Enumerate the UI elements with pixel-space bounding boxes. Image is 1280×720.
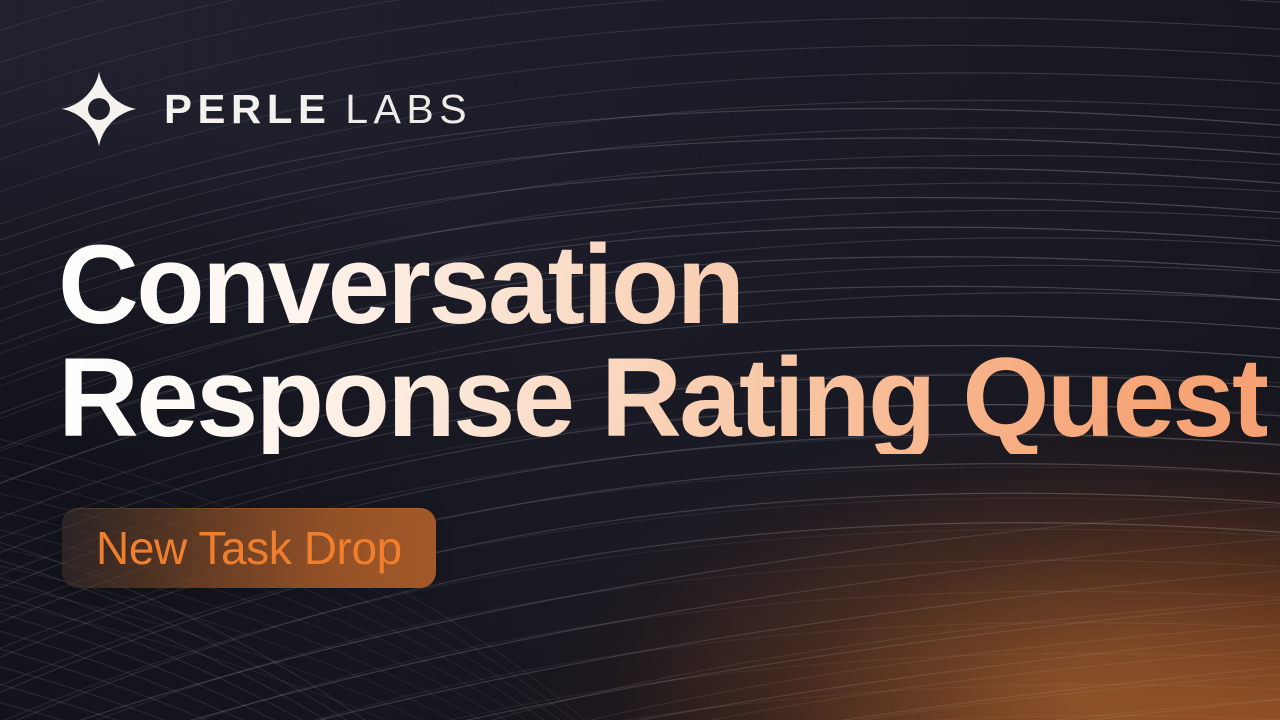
page-title: Conversation Response Rating Quest: [58, 228, 1267, 454]
banner-content: PERLE LABS Conversation Response Rating …: [0, 0, 1280, 720]
status-badge-label: New Task Drop: [96, 525, 402, 571]
perle-star-icon: [60, 70, 138, 148]
brand-logo: PERLE LABS: [60, 70, 472, 148]
promo-banner: PERLE LABS Conversation Response Rating …: [0, 0, 1280, 720]
status-badge: New Task Drop: [62, 508, 436, 588]
brand-name-primary: PERLE: [164, 89, 331, 130]
brand-name-secondary: LABS: [345, 89, 472, 130]
brand-wordmark: PERLE LABS: [164, 89, 472, 130]
